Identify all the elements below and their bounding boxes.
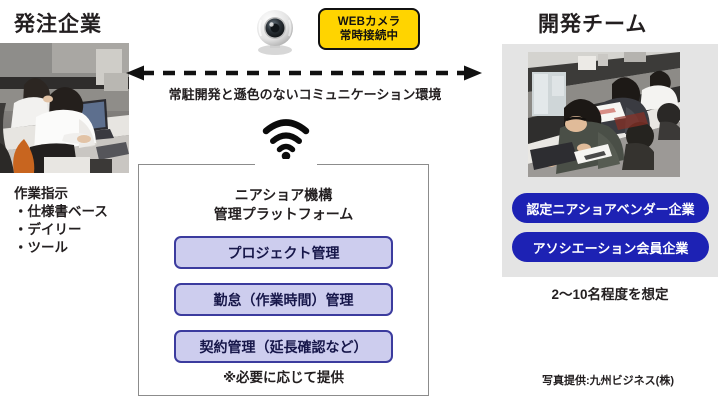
webcam-status-badge: WEBカメラ 常時接続中 [318,8,420,50]
team-size-note: 2〜10名程度を想定 [502,283,718,303]
left-work-instructions: 作業指示 ・仕様書ベース ・デイリー ・ツール [14,185,108,257]
pill-certified-vendor[interactable]: 認定ニアショアベンダー企業 [512,193,709,223]
diagram-canvas: 発注企業 [0,0,720,405]
wifi-icon [262,117,310,159]
client-office-photo [0,43,129,173]
development-team-photo-graphic [528,52,680,177]
platform-footnote: ※必要に応じて提供 [138,366,429,386]
feature-button-contract-management[interactable]: 契約管理（延長確認など） [174,330,393,363]
webcam-badge-line1: WEBカメラ [338,15,401,29]
webcam-badge-line2: 常時接続中 [340,29,399,43]
left-section-heading: 発注企業 [14,8,102,38]
platform-title-line1: ニアショア機構 [138,186,429,205]
webcam-icon [249,4,301,56]
panel-border-gap [255,158,317,172]
right-section-heading: 開発チーム [538,8,647,38]
platform-title-line2: 管理プラットフォーム [138,205,429,224]
double-headed-dashed-arrow [126,64,482,82]
platform-title: ニアショア機構 管理プラットフォーム [138,186,429,224]
client-office-photo-graphic [0,43,129,173]
pill-association-member[interactable]: アソシエーション会員企業 [512,232,709,262]
communication-caption: 常駐開発と遜色のないコミュニケーション環境 [120,84,490,103]
feature-button-attendance-management[interactable]: 勤怠（作業時間）管理 [174,283,393,316]
feature-button-project-management[interactable]: プロジェクト管理 [174,236,393,269]
development-team-photo [528,52,680,177]
photo-credit: 写真提供:九州ビジネス(株) [500,372,716,388]
